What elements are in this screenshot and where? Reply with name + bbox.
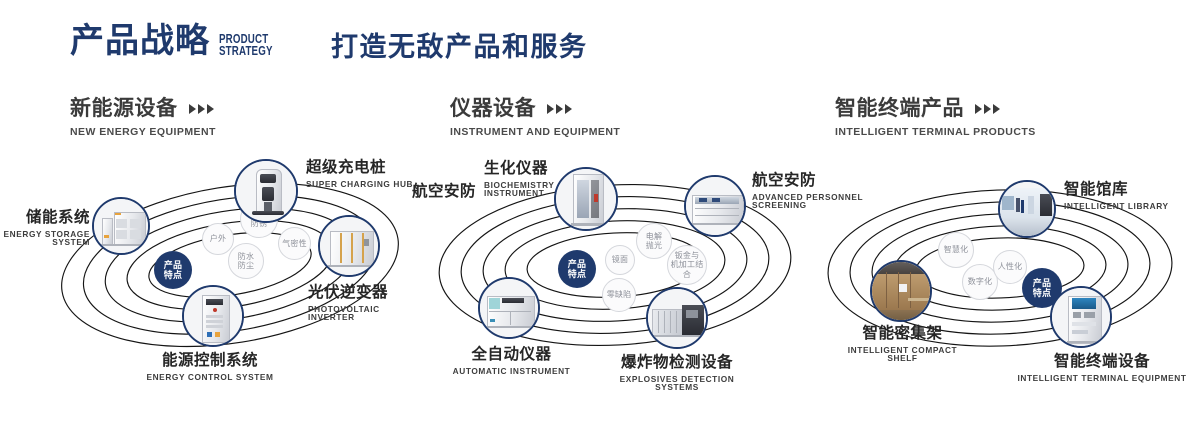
caption-en: INTELLIGENT LIBRARY — [1064, 202, 1184, 210]
caption-en: BIOCHEMISTRY INSTRUMENT — [484, 181, 592, 198]
node-pv-inverter[interactable] — [318, 215, 380, 277]
caption-cn: 爆炸物检测设备 — [602, 355, 752, 371]
cluster-intelligent-terminal: 智慧化 数字化 人性化 产品 特点 智能馆库 INTELLIGENT LIBRA… — [820, 168, 1180, 368]
pv-inverter-photo — [320, 217, 378, 275]
caption-cn: 储能系统 — [0, 210, 90, 226]
caption-automatic: 全自动仪器 AUTOMATIC INSTRUMENT — [424, 347, 599, 375]
caption-cn: 智能终端设备 — [1012, 354, 1192, 370]
node-energy-control[interactable] — [182, 285, 244, 347]
feature-bubble: 零缺陷 — [602, 278, 636, 312]
feature-bubble: 智慧化 — [938, 232, 974, 268]
caption-terminal: 智能终端设备 INTELLIGENT TERMINAL EQUIPMENT — [1012, 354, 1192, 382]
page-subtitle: 打造无敌产品和服务 — [331, 34, 588, 61]
section-title-en: INTELLIGENT TERMINAL PRODUCTS — [835, 126, 1036, 138]
caption-en: ENERGY CONTROL SYSTEM — [90, 373, 330, 381]
section-title-en: INSTRUMENT AND EQUIPMENT — [450, 126, 620, 138]
node-compact-shelf[interactable] — [870, 260, 932, 322]
node-library[interactable] — [998, 180, 1056, 238]
caption-cn: 能源控制系统 — [90, 353, 330, 369]
page-title-en: PRODUCT STRATEGY — [219, 34, 273, 57]
feature-bubble: 气密性 — [278, 227, 311, 260]
caption-cn: 全自动仪器 — [424, 347, 599, 363]
caption-cn: 智能密集架 — [825, 326, 980, 342]
caption-pv-inverter: 光伏逆变器 PHOTOVOLTAIC INVERTER — [308, 285, 428, 321]
triple-chevron-right-icon — [189, 104, 214, 114]
caption-charging-hub: 超级充电桩 SUPER CHARGING HUB — [306, 160, 416, 188]
triple-chevron-right-icon — [975, 104, 1000, 114]
caption-en: EXPLOSIVES DETECTION SYSTEMS — [602, 375, 752, 392]
energy-control-photo — [184, 287, 242, 345]
cluster-instrument: 产品 特点 镜面 电解 抛光 钣金与 机加工结合 零缺陷 航空安防 生化仪器 B… — [430, 165, 800, 365]
caption-en: ENERGY STORAGE SYSTEM — [0, 230, 90, 247]
page-title-cn: 产品战略 — [70, 24, 210, 58]
energy-storage-photo — [94, 199, 148, 253]
feature-bubble: 电解 抛光 — [636, 223, 672, 259]
caption-en: SUPER CHARGING HUB — [306, 180, 416, 188]
caption-en: INTELLIGENT TERMINAL EQUIPMENT — [1012, 374, 1192, 382]
caption-energy-control: 能源控制系统 ENERGY CONTROL SYSTEM — [90, 353, 330, 381]
page-title: 产品战略 PRODUCT STRATEGY — [70, 24, 288, 58]
feature-bubble: 钣金与 机加工结合 — [667, 245, 707, 285]
caption-en: INTELLIGENT COMPACT SHELF — [825, 346, 980, 363]
caption-library: 智能馆库 INTELLIGENT LIBRARY — [1064, 182, 1184, 210]
node-explosives[interactable] — [646, 287, 708, 349]
section-title-instrument: 仪器设备 INSTRUMENT AND EQUIPMENT — [450, 98, 620, 138]
compact-shelf-photo — [872, 262, 930, 320]
node-automatic[interactable] — [478, 277, 540, 339]
caption-en: AUTOMATIC INSTRUMENT — [424, 367, 599, 375]
section-title-cn: 智能终端产品 — [835, 98, 1036, 119]
feature-bubble: 人性化 — [993, 250, 1027, 284]
node-charging-hub[interactable] — [234, 159, 298, 223]
library-photo — [1000, 182, 1054, 236]
caption-cn: 生化仪器 — [484, 161, 592, 177]
floating-label-aviation-security: 航空安防 — [412, 179, 476, 201]
node-terminal[interactable] — [1050, 286, 1112, 348]
section-title-cn-text: 新能源设备 — [70, 98, 178, 119]
section-title-en: NEW ENERGY EQUIPMENT — [70, 126, 216, 138]
poster-canvas: 产品战略 PRODUCT STRATEGY 打造无敌产品和服务 新能源设备 NE… — [0, 0, 1200, 422]
caption-cn: 超级充电桩 — [306, 160, 416, 176]
terminal-photo — [1052, 288, 1110, 346]
feature-bubble: 镜面 — [605, 245, 635, 275]
caption-cn: 光伏逆变器 — [308, 285, 428, 301]
section-title-cn: 新能源设备 — [70, 98, 216, 119]
core-bubble: 产品 特点 — [154, 251, 192, 289]
caption-en: PHOTOVOLTAIC INVERTER — [308, 305, 428, 322]
screening-photo — [686, 177, 744, 235]
section-title-cn-text: 智能终端产品 — [835, 98, 964, 119]
caption-explosives: 爆炸物检测设备 EXPLOSIVES DETECTION SYSTEMS — [602, 355, 752, 391]
section-title-cn: 仪器设备 — [450, 98, 620, 119]
node-screening[interactable] — [684, 175, 746, 237]
automatic-photo — [480, 279, 538, 337]
charging-hub-photo — [236, 161, 296, 221]
section-title-intelligent-terminal: 智能终端产品 INTELLIGENT TERMINAL PRODUCTS — [835, 98, 1036, 138]
feature-bubble: 防水 防尘 — [228, 243, 264, 279]
caption-energy-storage: 储能系统 ENERGY STORAGE SYSTEM — [0, 210, 90, 246]
section-title-cn-text: 仪器设备 — [450, 98, 536, 119]
caption-cn: 智能馆库 — [1064, 182, 1184, 198]
explosives-photo — [648, 289, 706, 347]
caption-biochem: 生化仪器 BIOCHEMISTRY INSTRUMENT — [484, 161, 592, 197]
cluster-new-energy: 产品 特点 户外 防腐 防锈 防水 防尘 气密性 储能系统 ENERGY STO… — [50, 165, 410, 365]
core-bubble: 产品 特点 — [558, 250, 596, 288]
node-energy-storage[interactable] — [92, 197, 150, 255]
section-title-new-energy: 新能源设备 NEW ENERGY EQUIPMENT — [70, 98, 216, 138]
caption-compact-shelf: 智能密集架 INTELLIGENT COMPACT SHELF — [825, 326, 980, 362]
triple-chevron-right-icon — [547, 104, 572, 114]
feature-bubble: 户外 — [202, 223, 234, 255]
